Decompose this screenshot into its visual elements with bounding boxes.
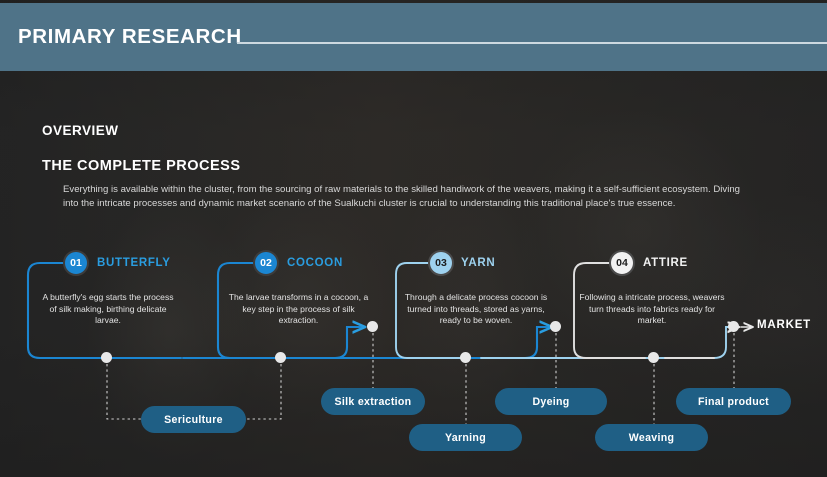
stage-number-03: 03 [428,250,454,276]
stage-description-yarn: Through a delicate process cocoon is tur… [400,292,552,327]
stage-description-cocoon: The larvae transforms in a cocoon, a key… [226,292,371,327]
pill-silk-extraction[interactable]: Silk extraction [321,388,425,415]
stage-label-butterfly: BUTTERFLY [97,257,171,269]
stage-number-01: 01 [63,250,89,276]
flow-node-dot-2 [275,352,286,363]
stage-description-butterfly: A butterfly's egg starts the process of … [38,292,178,327]
slide-header: PRIMARY RESEARCH [0,3,827,71]
flow-node-dot-7 [728,321,739,332]
stage-label-cocoon: COCOON [287,257,343,269]
pill-final-product[interactable]: Final product [676,388,791,415]
stage-number-04: 04 [609,250,635,276]
stage-number-02: 02 [253,250,279,276]
flow-end-label-market: MARKET [757,319,811,331]
flow-node-dot-3 [367,321,378,332]
page-title: PRIMARY RESEARCH [18,25,242,49]
stage-label-yarn: YARN [461,257,495,269]
flow-node-dot-1 [101,352,112,363]
overview-heading: OVERVIEW [42,123,119,138]
pill-dyeing[interactable]: Dyeing [495,388,607,415]
process-heading: THE COMPLETE PROCESS [42,158,241,174]
flow-node-dot-6 [648,352,659,363]
pill-weaving[interactable]: Weaving [595,424,708,451]
stage-description-attire: Following a intricate process, weavers t… [578,292,726,327]
flow-node-dot-5 [550,321,561,332]
stage-label-attire: ATTIRE [643,257,688,269]
flow-node-dot-4 [460,352,471,363]
pill-yarning[interactable]: Yarning [409,424,522,451]
intro-paragraph: Everything is available within the clust… [63,183,753,211]
header-divider [237,42,827,44]
slide-canvas: PRIMARY RESEARCH OVERVIEW THE COMPLETE P… [0,0,827,477]
pill-sericulture[interactable]: Sericulture [141,406,246,433]
